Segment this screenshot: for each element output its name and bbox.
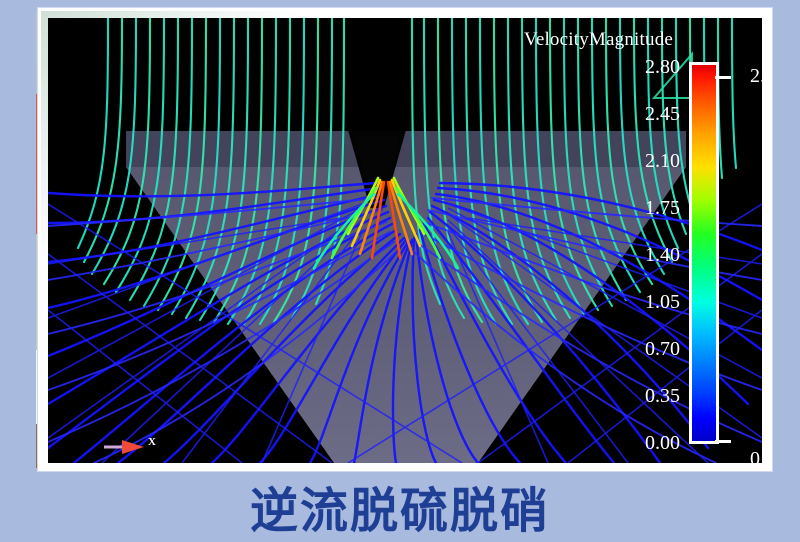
colorbar-min-tick [715, 440, 731, 443]
colorbar-tick-7: 0.35 [645, 386, 680, 406]
colorbar-tick-6: 0.70 [645, 339, 680, 359]
colorbar-tick-0: 2.80 [645, 57, 680, 77]
figure-caption: 逆流脱硫脱硝 [0, 474, 800, 538]
colorbar-tick-2: 2.10 [645, 151, 680, 171]
axis-arrow-icon [104, 434, 168, 460]
screenshot-root: X VelocityMagnitude 2.80 2.45 2.10 1.75 … [0, 0, 800, 542]
axis-label-x: X [148, 436, 156, 448]
colorbar-tick-1: 2.45 [645, 104, 680, 124]
colorbar-title: VelocityMagnitude [524, 29, 673, 51]
colorbar-max-value: 2.74 [750, 65, 762, 88]
colorbar-max-tick [715, 76, 731, 79]
colorbar-tick-8: 0.00 [645, 433, 680, 453]
colorbar-gradient [689, 62, 719, 444]
colorbar-min-value: 0.00 [750, 448, 762, 463]
colorbar-tick-4: 1.40 [645, 245, 680, 265]
cfd-visualization-canvas: X VelocityMagnitude 2.80 2.45 2.10 1.75 … [48, 18, 762, 463]
colorbar-tick-5: 1.05 [645, 292, 680, 312]
colorbar [689, 62, 719, 444]
colorbar-tick-labels: 2.80 2.45 2.10 1.75 1.40 1.05 0.70 0.35 … [588, 62, 680, 444]
axis-indicator: X [104, 434, 168, 460]
colorbar-tick-3: 1.75 [645, 198, 680, 218]
